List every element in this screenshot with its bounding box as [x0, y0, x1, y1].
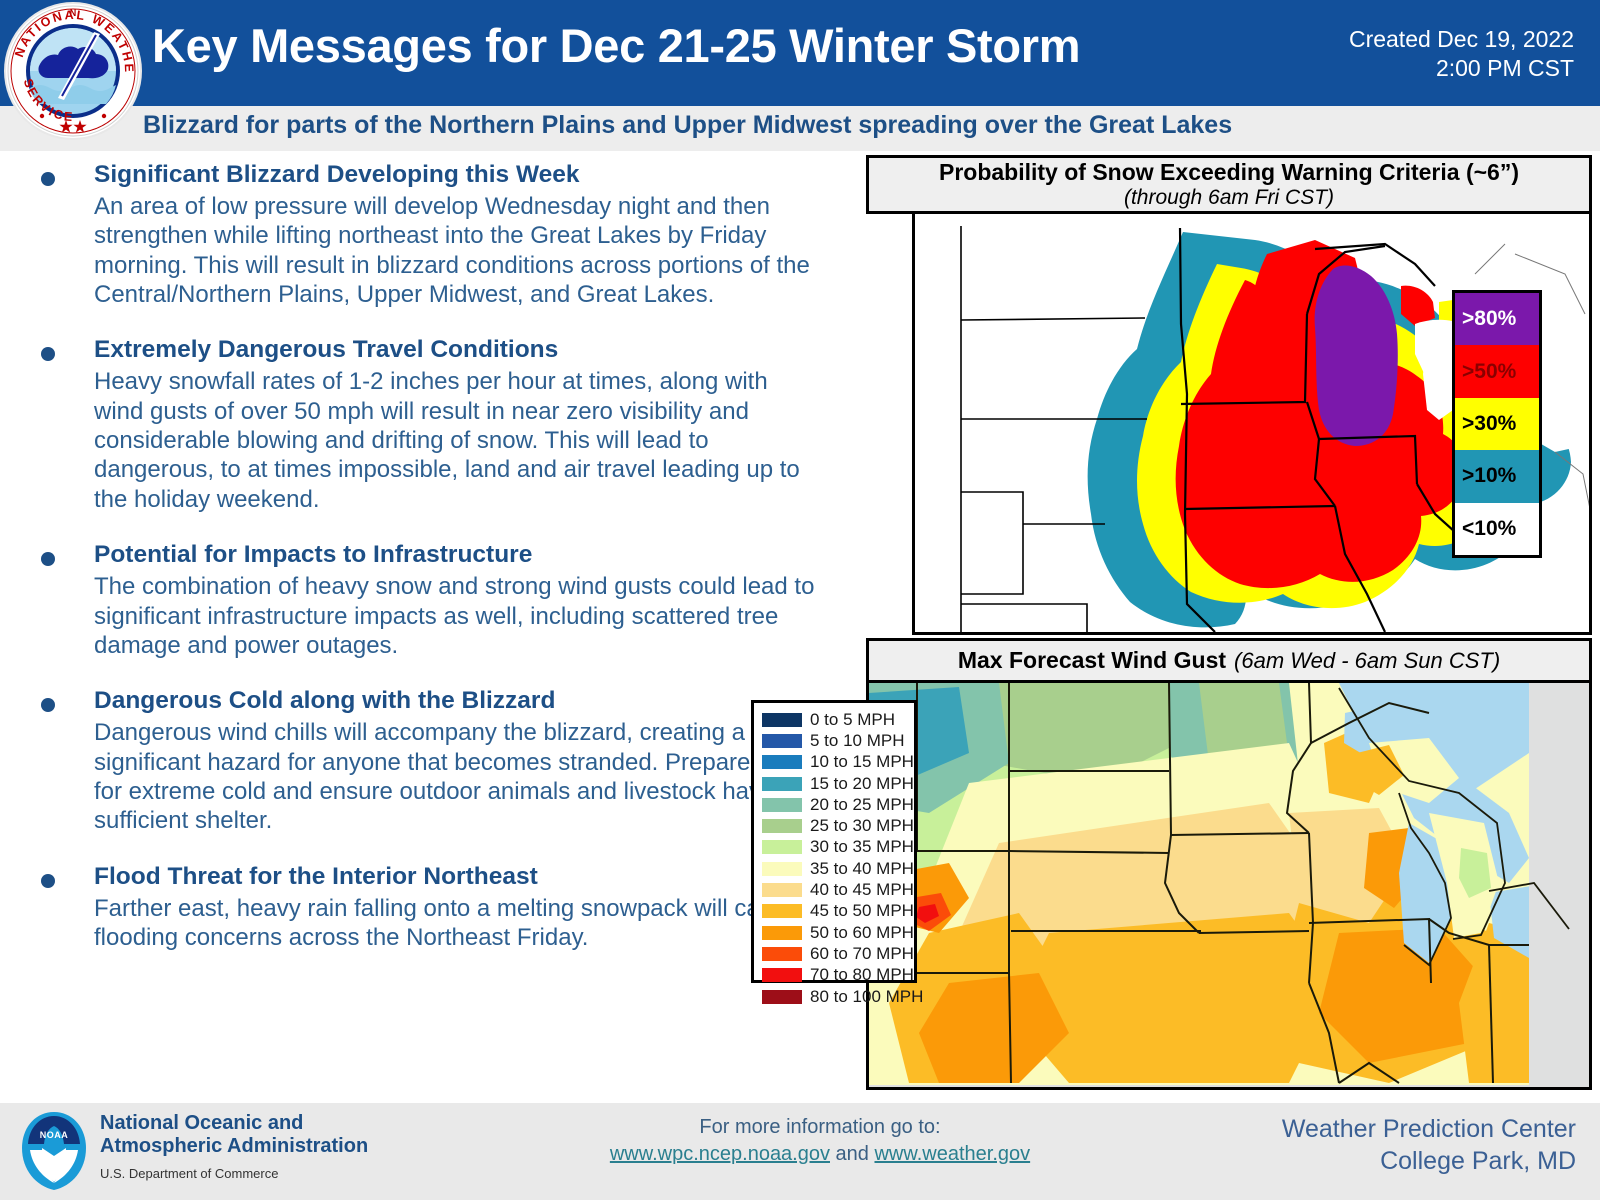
list-item: Significant Blizzard Developing this Wee… — [36, 160, 816, 309]
legend-label: 20 to 25 MPH — [810, 795, 914, 815]
list-item-body: Farther east, heavy rain falling onto a … — [94, 894, 816, 953]
legend-item: 10 to 15 MPH — [762, 752, 914, 773]
list-item-heading: Significant Blizzard Developing this Wee… — [94, 160, 816, 190]
list-item-body: The combination of heavy snow and strong… — [94, 572, 816, 660]
subtitle-text: Blizzard for parts of the Northern Plain… — [143, 111, 1232, 140]
legend-item-80: >80% — [1455, 293, 1539, 345]
legend-label: 30 to 35 MPH — [810, 837, 914, 857]
list-item: Potential for Impacts to Infrastructure … — [36, 540, 816, 660]
legend-swatch — [762, 819, 802, 833]
created-date: Created Dec 19, 2022 — [1349, 25, 1574, 54]
legend-swatch — [762, 862, 802, 876]
legend-label: 5 to 10 MPH — [810, 731, 905, 751]
link-conjunction: and — [830, 1143, 874, 1165]
legend-label: 60 to 70 MPH — [810, 944, 914, 964]
legend-label: 0 to 5 MPH — [810, 710, 895, 730]
legend-item: 70 to 80 MPH — [762, 965, 914, 986]
legend-item: 45 to 50 MPH — [762, 901, 914, 922]
legend-label: >30% — [1462, 412, 1516, 436]
legend-item: 35 to 40 MPH — [762, 858, 914, 879]
legend-swatch — [762, 777, 802, 791]
legend-item: 30 to 35 MPH — [762, 837, 914, 858]
legend-label: 25 to 30 MPH — [810, 816, 914, 836]
nws-logo: N NATIONAL WEATHER SERVICE — [4, 2, 142, 140]
page-title: Key Messages for Dec 21-25 Winter Storm — [152, 18, 1080, 73]
bullet-dot-icon — [41, 552, 55, 566]
created-timestamp: Created Dec 19, 2022 2:00 PM CST — [1349, 25, 1574, 84]
legend-label: <10% — [1462, 517, 1516, 541]
list-item-heading: Flood Threat for the Interior Northeast — [94, 862, 816, 892]
list-item-heading: Dangerous Cold along with the Blizzard — [94, 686, 816, 716]
noaa-agency-text: National Oceanic and Atmospheric Adminis… — [100, 1112, 368, 1181]
legend-swatch — [762, 755, 802, 769]
noaa-line-2: Atmospheric Administration — [100, 1135, 368, 1158]
list-item: Flood Threat for the Interior Northeast … — [36, 862, 816, 953]
legend-swatch — [762, 947, 802, 961]
legend-item: 0 to 5 MPH — [762, 709, 914, 730]
svg-text:NOAA: NOAA — [40, 1130, 69, 1140]
footer-links: www.wpc.ncep.noaa.gov and www.weather.go… — [560, 1143, 1080, 1166]
legend-swatch — [762, 904, 802, 918]
legend-swatch — [762, 883, 802, 897]
legend-item: 60 to 70 MPH — [762, 943, 914, 964]
legend-label: >80% — [1462, 307, 1516, 331]
legend-label: 45 to 50 MPH — [810, 901, 914, 921]
legend-label: >50% — [1462, 360, 1516, 384]
list-item-heading: Potential for Impacts to Infrastructure — [94, 540, 816, 570]
legend-item: 5 to 10 MPH — [762, 730, 914, 751]
list-item-heading: Extremely Dangerous Travel Conditions — [94, 335, 816, 365]
wind-gust-map-image — [866, 683, 1592, 1090]
bullet-dot-icon — [41, 874, 55, 888]
legend-label: 15 to 20 MPH — [810, 774, 914, 794]
legend-item-30: >30% — [1455, 398, 1539, 450]
legend-item: 20 to 25 MPH — [762, 794, 914, 815]
noaa-line-1: National Oceanic and — [100, 1112, 368, 1135]
wpc-link[interactable]: www.wpc.ncep.noaa.gov — [610, 1143, 830, 1165]
legend-label: 50 to 60 MPH — [810, 923, 914, 943]
legend-label: 35 to 40 MPH — [810, 859, 914, 879]
legend-item: 15 to 20 MPH — [762, 773, 914, 794]
bullet-dot-icon — [41, 347, 55, 361]
wind-gust-map-panel: Max Forecast Wind Gust (6am Wed - 6am Su… — [866, 638, 1592, 1090]
bullet-dot-icon — [41, 172, 55, 186]
list-item-body: Dangerous wind chills will accompany the… — [94, 718, 816, 836]
legend-item: 50 to 60 MPH — [762, 922, 914, 943]
created-time: 2:00 PM CST — [1349, 54, 1574, 83]
legend-swatch — [762, 840, 802, 854]
weather-gov-link[interactable]: www.weather.gov — [874, 1143, 1030, 1165]
legend-swatch — [762, 713, 802, 727]
noaa-logo-icon: NOAA — [22, 1112, 86, 1190]
list-item: Extremely Dangerous Travel Conditions He… — [36, 335, 816, 514]
legend-label: >10% — [1462, 464, 1516, 488]
legend-label: 10 to 15 MPH — [810, 752, 914, 772]
list-item-body: Heavy snowfall rates of 1-2 inches per h… — [94, 367, 816, 514]
legend-swatch — [762, 968, 802, 982]
probability-map-title: Probability of Snow Exceeding Warning Cr… — [866, 155, 1592, 214]
office-location: College Park, MD — [1282, 1146, 1576, 1178]
probability-legend: >80% >50% >30% >10% <10% — [1452, 290, 1542, 558]
legend-swatch — [762, 798, 802, 812]
legend-item-50: >50% — [1455, 345, 1539, 397]
legend-item: 40 to 45 MPH — [762, 879, 914, 900]
legend-label: 40 to 45 MPH — [810, 880, 914, 900]
wind-gust-title-sub: (6am Wed - 6am Sun CST) — [1234, 648, 1500, 674]
wind-gust-title-main: Max Forecast Wind Gust — [958, 647, 1226, 674]
legend-label: 80 to 100 MPH — [810, 987, 923, 1007]
probability-map-title-sub: (through 6am Fri CST) — [1124, 186, 1334, 210]
bullet-dot-icon — [41, 698, 55, 712]
footer-info-label: For more information go to: — [560, 1116, 1080, 1139]
legend-swatch — [762, 990, 802, 1004]
legend-label: 70 to 80 MPH — [810, 965, 914, 985]
list-item: Dangerous Cold along with the Blizzard D… — [36, 686, 816, 835]
noaa-line-3: U.S. Department of Commerce — [100, 1166, 368, 1181]
key-messages-list: Significant Blizzard Developing this Wee… — [36, 160, 816, 978]
legend-item: 80 to 100 MPH — [762, 986, 914, 1007]
legend-item: 25 to 30 MPH — [762, 815, 914, 836]
wind-gust-map-title: Max Forecast Wind Gust (6am Wed - 6am Su… — [866, 638, 1592, 683]
list-item-body: An area of low pressure will develop Wed… — [94, 192, 816, 310]
legend-item-lt10: <10% — [1455, 503, 1539, 555]
office-name: Weather Prediction Center — [1282, 1114, 1576, 1146]
legend-swatch — [762, 734, 802, 748]
footer-info: For more information go to: www.wpc.ncep… — [560, 1116, 1080, 1166]
probability-map-title-main: Probability of Snow Exceeding Warning Cr… — [939, 159, 1519, 186]
footer-office: Weather Prediction Center College Park, … — [1282, 1114, 1576, 1178]
legend-swatch — [762, 926, 802, 940]
legend-item-10: >10% — [1455, 450, 1539, 502]
wind-gust-legend: 0 to 5 MPH 5 to 10 MPH 10 to 15 MPH 15 t… — [751, 700, 917, 983]
